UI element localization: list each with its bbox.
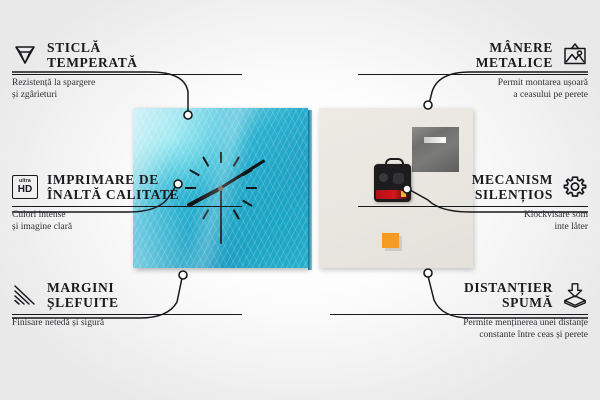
feature-tempered-glass[interactable]: STICLĂ TEMPERATĂ Rezistență la spargere … bbox=[12, 40, 242, 101]
feature-description: Klockvisare som inte låter bbox=[358, 210, 588, 233]
feature-header: DISTANȚIER SPUMĂ bbox=[330, 280, 588, 310]
foam-spacer bbox=[382, 233, 399, 248]
feature-title: MECANISM SILENȚIOS bbox=[472, 172, 553, 202]
picture-hanger-icon bbox=[562, 43, 588, 67]
divider bbox=[330, 314, 588, 315]
feature-header: ultra HD IMPRIMARE DE ÎNALTĂ CALITATE bbox=[12, 172, 242, 202]
metal-hanger-plate bbox=[412, 127, 459, 172]
feature-description: Permit montarea ușoară a ceasului pe per… bbox=[358, 78, 588, 101]
feature-title: IMPRIMARE DE ÎNALTĂ CALITATE bbox=[47, 172, 179, 202]
feature-header: MARGINI ȘLEFUITE bbox=[12, 280, 242, 310]
clock-glass-edge bbox=[308, 110, 312, 270]
divider bbox=[12, 314, 242, 315]
feature-description: Rezistență la spargere și zgârieturi bbox=[12, 78, 242, 101]
ultra-hd-icon: ultra HD bbox=[12, 175, 38, 199]
divider bbox=[358, 74, 588, 75]
feature-title: STICLĂ TEMPERATĂ bbox=[47, 40, 138, 70]
feature-title: DISTANȚIER SPUMĂ bbox=[464, 280, 553, 310]
feature-description: Finisare netedă și sigură bbox=[12, 318, 242, 330]
infographic-canvas: STICLĂ TEMPERATĂ Rezistență la spargere … bbox=[0, 0, 600, 400]
feature-description: Culori intense și imagine clară bbox=[12, 210, 242, 233]
diamond-icon bbox=[12, 43, 38, 67]
beveled-edges-icon bbox=[12, 283, 38, 307]
divider bbox=[12, 206, 242, 207]
divider bbox=[358, 206, 588, 207]
gear-icon bbox=[562, 175, 588, 199]
feature-title: MÂNERE METALICE bbox=[476, 40, 553, 70]
feature-title: MARGINI ȘLEFUITE bbox=[47, 280, 119, 310]
feature-header: MÂNERE METALICE bbox=[358, 40, 588, 70]
feature-silent-mechanism[interactable]: MECANISM SILENȚIOS Klockvisare som inte … bbox=[358, 172, 588, 233]
feature-description: Permite menținerea unei distanțe constan… bbox=[330, 318, 588, 341]
mechanism-hanger-loop bbox=[385, 158, 404, 168]
foam-spacer-icon bbox=[562, 283, 588, 307]
divider bbox=[12, 74, 242, 75]
feature-header: STICLĂ TEMPERATĂ bbox=[12, 40, 242, 70]
feature-metal-hangers[interactable]: MÂNERE METALICE Permit montarea ușoară bbox=[358, 40, 588, 101]
feature-polished-edges[interactable]: MARGINI ȘLEFUITE Finisare netedă și sigu… bbox=[12, 280, 242, 330]
feature-header: MECANISM SILENȚIOS bbox=[358, 172, 588, 202]
feature-foam-spacer[interactable]: DISTANȚIER SPUMĂ Permite menținerea unei… bbox=[330, 280, 588, 341]
feature-high-quality-print[interactable]: ultra HD IMPRIMARE DE ÎNALTĂ CALITATE Cu… bbox=[12, 172, 242, 233]
